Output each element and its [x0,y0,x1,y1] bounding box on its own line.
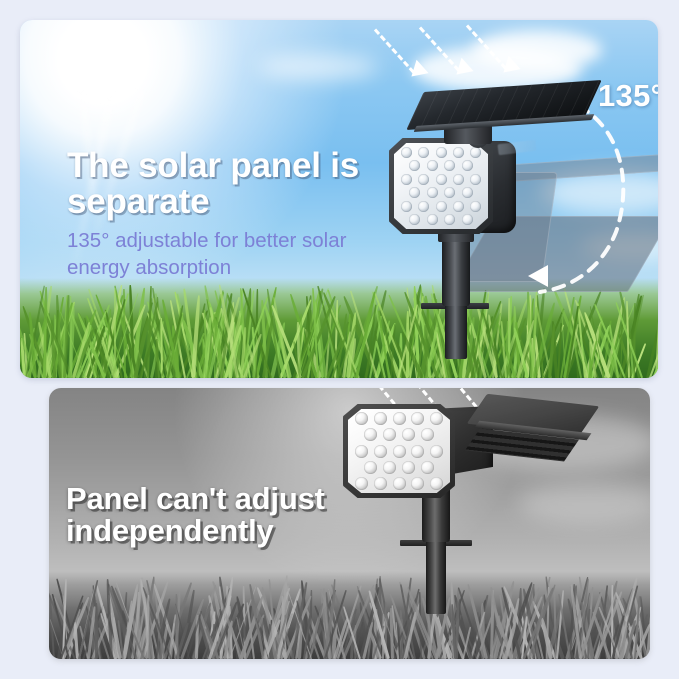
led-lens-array [348,409,450,493]
led-diode [401,147,412,158]
led-diode [453,174,464,185]
led-diode [401,174,412,185]
ground-stake [426,536,446,614]
led-diode [411,477,424,490]
grass-blade [95,603,98,659]
led-diode [383,461,396,474]
led-diode [402,461,415,474]
led-diode [462,187,473,198]
panel-solar-panel-separate: The solar panel is separate 135° adjusta… [20,20,658,378]
led-diode [411,445,424,458]
led-diode [418,147,429,158]
led-diode [393,477,406,490]
led-diode [453,147,464,158]
led-diode [430,412,443,425]
pole-shaft [442,238,470,306]
headline-positive: The solar panel is separate [67,148,397,220]
led-diode [444,214,455,225]
led-diode [364,428,377,441]
led-diode [411,412,424,425]
led-diode [427,214,438,225]
led-diode [402,428,415,441]
led-diode [430,477,443,490]
led-diode [374,412,387,425]
led-diode [444,187,455,198]
led-diode [374,445,387,458]
led-diode [427,187,438,198]
led-diode [393,412,406,425]
led-lens-array [394,143,488,229]
subheadline-positive: 135° adjustable for better solar energy … [67,227,387,281]
led-diode [383,428,396,441]
led-diode [427,160,438,171]
led-diode [462,214,473,225]
infographic-stage: The solar panel is separate 135° adjusta… [0,0,679,679]
led-diode [430,445,443,458]
led-diode [436,201,447,212]
led-diode [409,160,420,171]
led-diode [393,445,406,458]
panel-panel-cannot-adjust: Panel can't adjust independently [49,388,650,659]
led-diode [355,445,368,458]
rotation-arrow-lower [528,265,548,287]
led-diode [436,147,447,158]
led-diode [401,201,412,212]
led-diode [470,147,481,158]
headline-negative: Panel can't adjust independently [66,483,386,547]
led-diode [409,214,420,225]
cloud [258,54,378,80]
led-diode [418,201,429,212]
led-diode [470,174,481,185]
led-diode [364,461,377,474]
led-diode [470,201,481,212]
led-diode [421,461,434,474]
led-diode [444,160,455,171]
grass-foreground [20,278,658,378]
angle-label-135: 135° [598,78,658,114]
led-diode [409,187,420,198]
led-diode [453,201,464,212]
ground-stake [445,297,467,359]
grass-foreground [49,571,650,659]
led-diode [421,428,434,441]
cloud [519,484,650,524]
led-diode [462,160,473,171]
led-diode [418,174,429,185]
led-diode [355,412,368,425]
led-diode [436,174,447,185]
